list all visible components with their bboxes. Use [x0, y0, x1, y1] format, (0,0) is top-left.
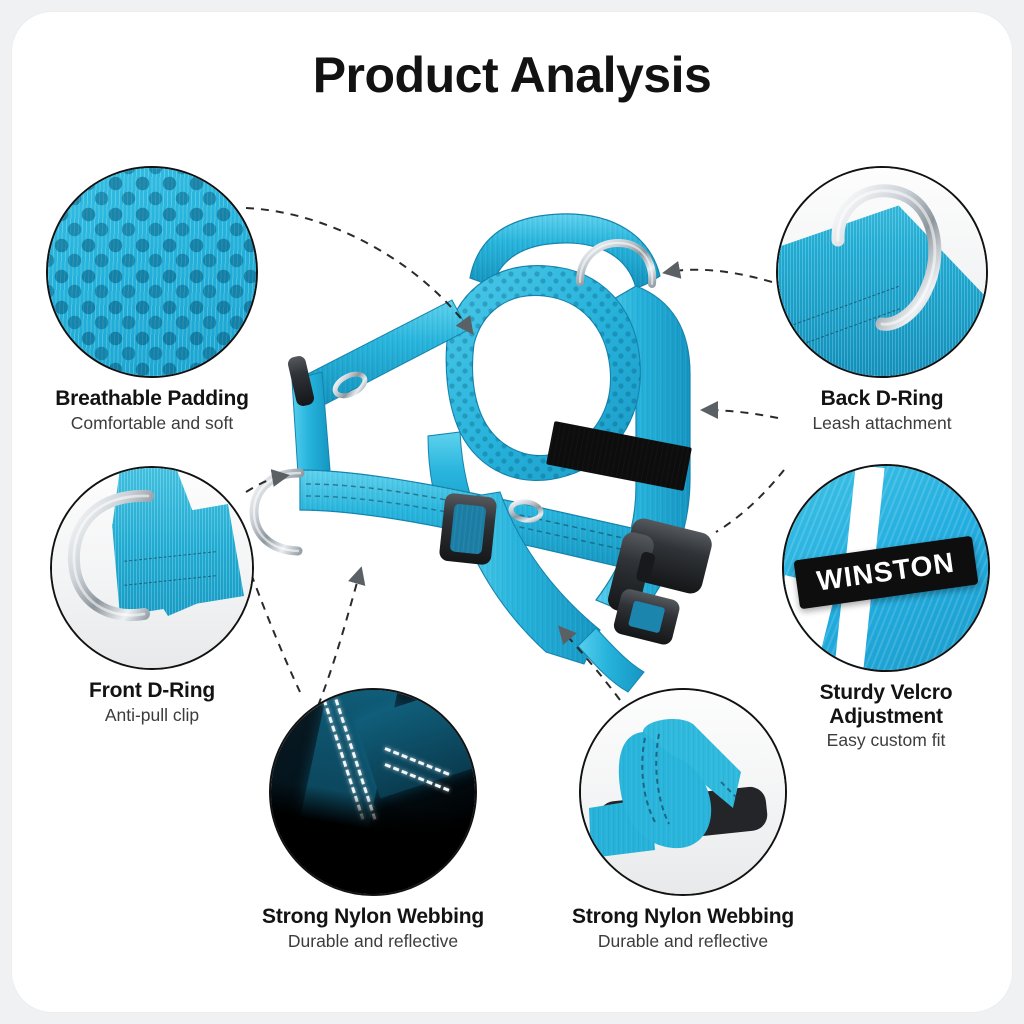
- callout-subtitle-nylon-webbing-buckle: Durable and reflective: [558, 931, 808, 951]
- callout-image-back-d-ring: [776, 166, 988, 378]
- callout-image-front-d-ring: [50, 466, 254, 670]
- callout-image-sturdy-velcro: WINSTON: [782, 464, 990, 672]
- callout-breathable-padding[interactable]: Breathable Padding Comfortable and soft: [36, 166, 268, 433]
- callout-subtitle-front-d-ring: Anti-pull clip: [36, 705, 268, 725]
- callout-image-nylon-webbing-night: [269, 688, 477, 896]
- callout-subtitle-nylon-webbing-night: Durable and reflective: [248, 931, 498, 951]
- callout-title-nylon-webbing-night: Strong Nylon Webbing: [248, 905, 498, 929]
- infographic-stage: Product Analysis: [0, 0, 1024, 1024]
- callout-title-nylon-webbing-buckle: Strong Nylon Webbing: [558, 905, 808, 929]
- callout-subtitle-breathable-padding: Comfortable and soft: [36, 413, 268, 433]
- callout-back-d-ring[interactable]: Back D-Ring Leash attachment: [766, 166, 998, 433]
- callout-nylon-webbing-night[interactable]: Strong Nylon Webbing Durable and reflect…: [248, 688, 498, 951]
- callout-image-breathable-padding: [46, 166, 258, 378]
- callout-subtitle-back-d-ring: Leash attachment: [766, 413, 998, 433]
- name-tag-text: WINSTON: [815, 547, 957, 598]
- callout-title-back-d-ring: Back D-Ring: [766, 387, 998, 411]
- callout-nylon-webbing-buckle[interactable]: Strong Nylon Webbing Durable and reflect…: [558, 688, 808, 951]
- callout-image-nylon-webbing-buckle: [579, 688, 787, 896]
- slider-adjuster: [439, 492, 498, 565]
- callout-title-breathable-padding: Breathable Padding: [36, 387, 268, 411]
- callout-front-d-ring[interactable]: Front D-Ring Anti-pull clip: [36, 466, 268, 725]
- harness-body: [254, 214, 714, 692]
- callout-title-front-d-ring: Front D-Ring: [36, 679, 268, 703]
